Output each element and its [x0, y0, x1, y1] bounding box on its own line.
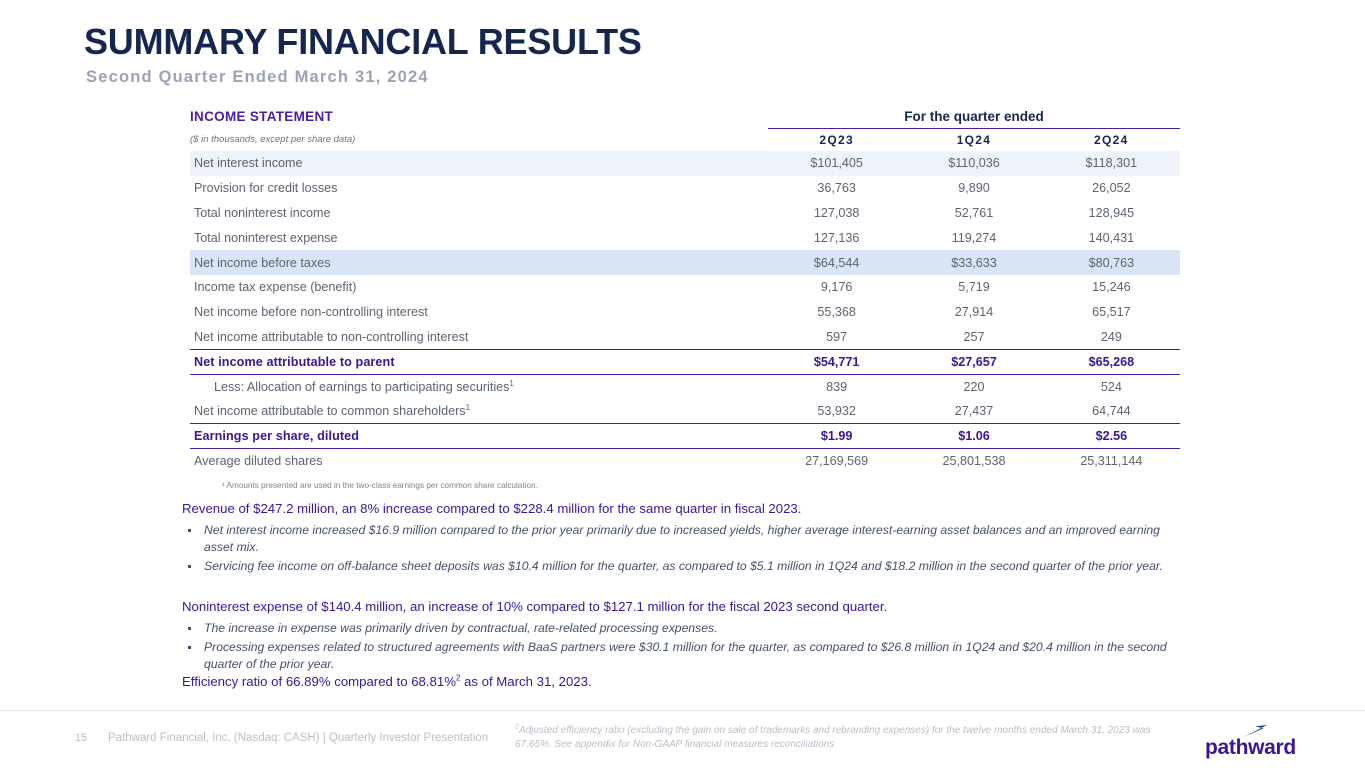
commentary-lead: Revenue of $247.2 million, an 8% increas… [182, 500, 1182, 518]
footer-organization: Pathward Financial, Inc, (Nasdaq: CASH) … [108, 732, 488, 744]
row-value-2q24: $118,301 [1043, 151, 1180, 176]
row-value-2q23: 9,176 [768, 275, 905, 300]
table-row-total-net-income-parent: Net income attributable to parent $54,77… [190, 349, 1180, 374]
logo-wordmark: pathward [1205, 736, 1296, 760]
row-value-2q24: 26,052 [1043, 176, 1180, 201]
row-value-2q24: $80,763 [1043, 250, 1180, 275]
row-label: Net income before non-controlling intere… [190, 300, 768, 325]
row-value-1q24: 5,719 [905, 275, 1042, 300]
row-label: Income tax expense (benefit) [190, 275, 768, 300]
row-value-2q23: 27,169,569 [768, 449, 905, 474]
table-row: Net interest income $101,405 $110,036 $1… [190, 151, 1180, 176]
list-item: The increase in expense was primarily dr… [182, 620, 1182, 637]
row-value-1q24: 52,761 [905, 201, 1042, 226]
table-row: Average diluted shares 27,169,569 25,801… [190, 449, 1180, 474]
pathward-logo: pathward [1205, 722, 1315, 762]
table-row-subtotal: Net income before taxes $64,544 $33,633 … [190, 250, 1180, 275]
row-label-text: Less: Allocation of earnings to particip… [214, 380, 509, 394]
commentary-bullet-list: Net interest income increased $16.9 mill… [182, 522, 1182, 576]
row-label: Provision for credit losses [190, 176, 768, 201]
table-row: Net income attributable to non-controlli… [190, 325, 1180, 350]
footnote-marker: 1 [466, 403, 470, 412]
efficiency-ratio-text-after: as of March 31, 2023. [460, 674, 591, 689]
row-value-2q24: 140,431 [1043, 225, 1180, 250]
row-value-2q23: $101,405 [768, 151, 905, 176]
row-value-1q24: 9,890 [905, 176, 1042, 201]
income-statement-table: INCOME STATEMENT For the quarter ended (… [190, 104, 1180, 473]
row-value-2q23: $54,771 [768, 349, 905, 374]
row-label: Total noninterest income [190, 201, 768, 226]
footer-footnote: 2Adjusted efficiency ratio (excluding th… [515, 724, 1175, 752]
row-label: Net income attributable to non-controlli… [190, 325, 768, 350]
table-row: Less: Allocation of earnings to particip… [190, 374, 1180, 399]
list-item: Servicing fee income on off-balance shee… [182, 558, 1182, 575]
list-item: Net interest income increased $16.9 mill… [182, 522, 1182, 557]
page-subtitle: Second Quarter Ended March 31, 2024 [86, 68, 429, 87]
row-value-1q24: 119,274 [905, 225, 1042, 250]
commentary-bullet-list: The increase in expense was primarily dr… [182, 620, 1182, 674]
row-value-1q24: $27,657 [905, 349, 1042, 374]
row-label-text: Net income attributable to common shareh… [194, 404, 466, 418]
footer-footnote-text: Adjusted efficiency ratio (excluding the… [515, 725, 1150, 750]
row-value-2q23: $1.99 [768, 424, 905, 449]
list-item: Processing expenses related to structure… [182, 639, 1182, 674]
page-title: SUMMARY FINANCIAL RESULTS [84, 23, 642, 62]
row-value-1q24: $110,036 [905, 151, 1042, 176]
efficiency-ratio-line: Efficiency ratio of 66.89% compared to 6… [182, 673, 1182, 691]
commentary-revenue: Revenue of $247.2 million, an 8% increas… [182, 500, 1182, 578]
row-value-2q23: $64,544 [768, 250, 905, 275]
row-value-2q23: 127,038 [768, 201, 905, 226]
table-header-columns-row: ($ in thousands, except per share data) … [190, 129, 1180, 152]
row-value-1q24: 27,437 [905, 399, 1042, 424]
row-value-1q24: 220 [905, 374, 1042, 399]
row-value-1q24: 257 [905, 325, 1042, 350]
table-footnote: ¹ Amounts presented are used in the two-… [222, 481, 538, 490]
row-label: Earnings per share, diluted [190, 424, 768, 449]
row-value-2q24: 249 [1043, 325, 1180, 350]
table-row-total-eps: Earnings per share, diluted $1.99 $1.06 … [190, 424, 1180, 449]
row-value-2q24: 65,517 [1043, 300, 1180, 325]
column-header-0: 2Q23 [768, 129, 905, 152]
commentary-noninterest-expense: Noninterest expense of $140.4 million, a… [182, 598, 1182, 676]
row-value-1q24: $33,633 [905, 250, 1042, 275]
row-value-2q23: 55,368 [768, 300, 905, 325]
row-label: Net income attributable to common shareh… [190, 399, 768, 424]
row-label: Net income before taxes [190, 250, 768, 275]
table-header-period-row: INCOME STATEMENT For the quarter ended [190, 104, 1180, 129]
footer-divider [0, 710, 1365, 711]
table-row: Total noninterest income 127,038 52,761 … [190, 201, 1180, 226]
row-label: Less: Allocation of earnings to particip… [190, 374, 768, 399]
row-value-2q24: 64,744 [1043, 399, 1180, 424]
column-header-2: 2Q24 [1043, 129, 1180, 152]
row-value-2q24: $2.56 [1043, 424, 1180, 449]
footnote-marker: 1 [509, 379, 513, 388]
commentary-lead: Noninterest expense of $140.4 million, a… [182, 598, 1182, 616]
table-row: Provision for credit losses 36,763 9,890… [190, 176, 1180, 201]
row-value-2q24: 25,311,144 [1043, 449, 1180, 474]
row-value-2q24: 15,246 [1043, 275, 1180, 300]
row-value-2q23: 597 [768, 325, 905, 350]
row-value-2q23: 53,932 [768, 399, 905, 424]
row-value-2q23: 127,136 [768, 225, 905, 250]
row-value-1q24: $1.06 [905, 424, 1042, 449]
table-period-header: For the quarter ended [768, 104, 1180, 129]
table-row: Income tax expense (benefit) 9,176 5,719… [190, 275, 1180, 300]
table-section-title: INCOME STATEMENT [190, 104, 768, 129]
row-label: Total noninterest expense [190, 225, 768, 250]
row-label: Net interest income [190, 151, 768, 176]
table-units-note: ($ in thousands, except per share data) [190, 129, 768, 152]
column-header-1: 1Q24 [905, 129, 1042, 152]
row-label: Average diluted shares [190, 449, 768, 474]
row-value-2q23: 839 [768, 374, 905, 399]
row-value-1q24: 25,801,538 [905, 449, 1042, 474]
row-value-2q23: 36,763 [768, 176, 905, 201]
row-value-1q24: 27,914 [905, 300, 1042, 325]
page-number: 15 [75, 732, 87, 744]
row-value-2q24: 524 [1043, 374, 1180, 399]
row-value-2q24: $65,268 [1043, 349, 1180, 374]
row-label: Net income attributable to parent [190, 349, 768, 374]
table-row: Total noninterest expense 127,136 119,27… [190, 225, 1180, 250]
row-value-2q24: 128,945 [1043, 201, 1180, 226]
table-row: Net income before non-controlling intere… [190, 300, 1180, 325]
efficiency-ratio-text-before: Efficiency ratio of 66.89% compared to 6… [182, 674, 456, 689]
table-row: Net income attributable to common shareh… [190, 399, 1180, 424]
